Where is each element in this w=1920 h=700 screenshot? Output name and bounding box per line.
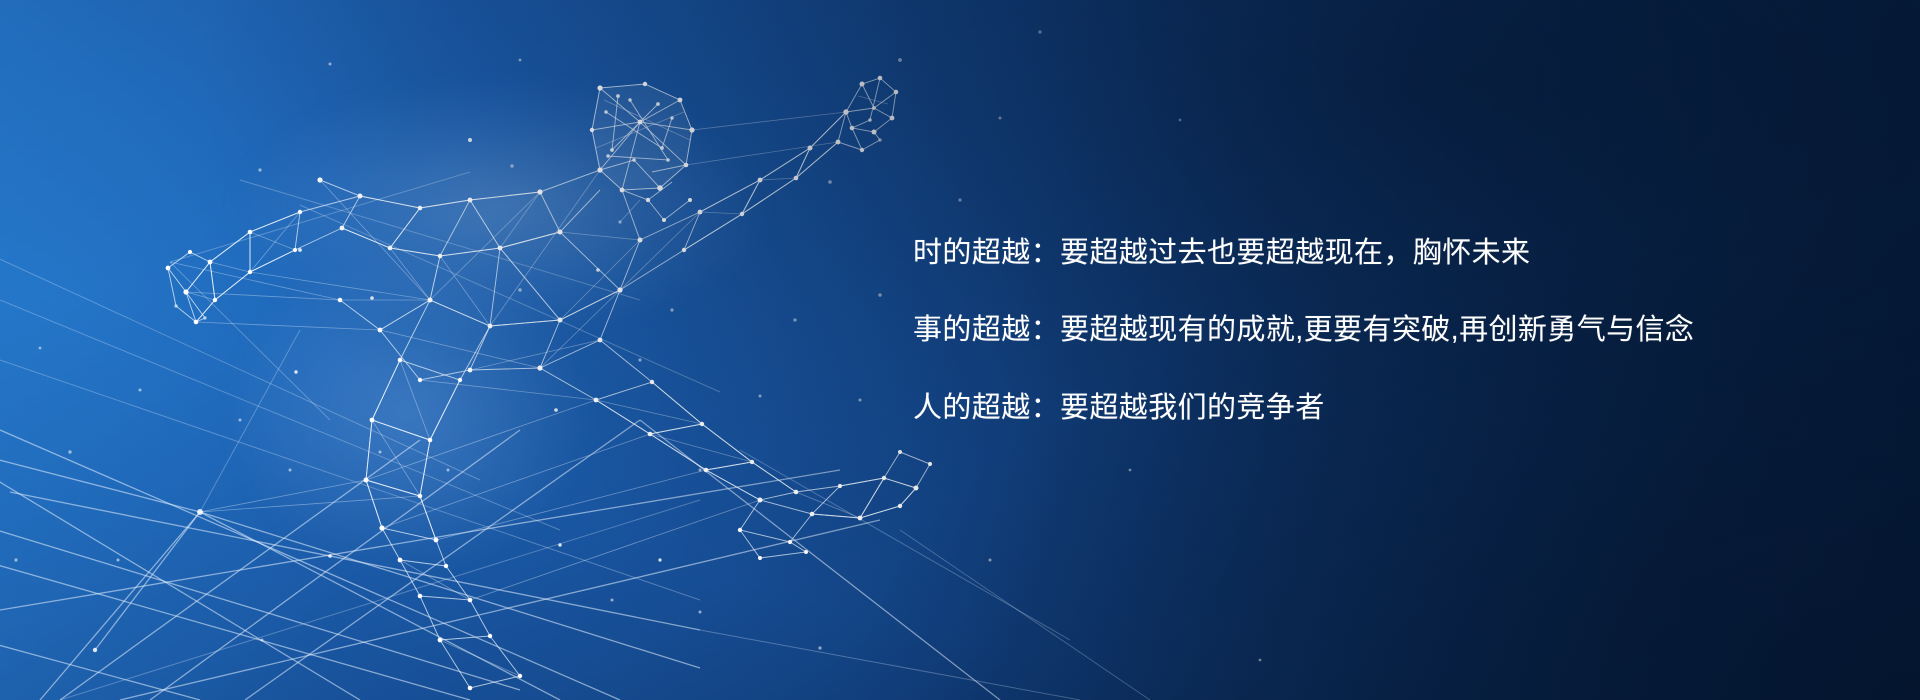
hero-banner: 时的超越：要超越过去也要超越现在，胸怀未来 事的超越：要超越现有的成就,更要有突… <box>0 0 1920 700</box>
slogan-line-people: 人的超越：要超越我们的竞争者 <box>913 393 1813 423</box>
slogan-line-matter: 事的超越：要超越现有的成就,更要有突破,再创新勇气与信念 <box>913 315 1813 345</box>
slogan-line-time: 时的超越：要超越过去也要超越现在，胸怀未来 <box>913 238 1813 268</box>
slogan-text-block: 时的超越：要超越过去也要超越现在，胸怀未来 事的超越：要超越现有的成就,更要有突… <box>913 238 1813 423</box>
